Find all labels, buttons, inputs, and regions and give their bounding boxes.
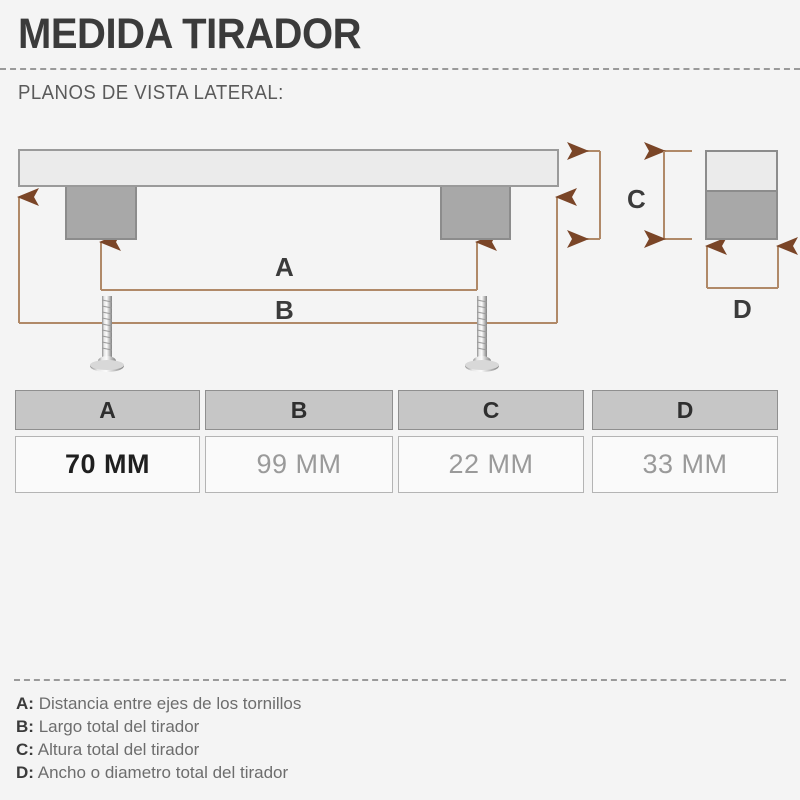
dimension-c-line-right: [664, 151, 692, 239]
screw-left-icon: [86, 296, 128, 378]
table-value-d: 33 MM: [592, 436, 778, 493]
table-column-c: C 22 MM: [398, 390, 584, 493]
legend-text-c: Altura total del tirador: [38, 740, 200, 759]
table-header-d: D: [592, 390, 778, 430]
legend-row: B: Largo total del tirador: [16, 715, 616, 738]
handle-front-view-shape: [705, 150, 778, 240]
legend-row: A: Distancia entre ejes de los tornillos: [16, 692, 616, 715]
legend-divider: [14, 679, 786, 681]
measurement-diagram-page: MEDIDA TIRADOR PLANOS DE VISTA LATERAL:: [0, 0, 800, 800]
table-column-a: A 70 MM: [15, 390, 200, 493]
measurement-table: A 70 MM B 99 MM C 22 MM D 33 MM: [0, 390, 800, 500]
legend-row: D: Ancho o diametro total del tirador: [16, 761, 616, 784]
table-header-c: C: [398, 390, 584, 430]
table-column-d: D 33 MM: [592, 390, 778, 493]
dimension-label-c: C: [627, 184, 646, 215]
technical-drawing: A B C D: [0, 0, 800, 390]
table-column-b: B 99 MM: [205, 390, 393, 493]
legend-key-d: D:: [16, 763, 34, 782]
legend-key-a: A:: [16, 694, 34, 713]
handle-bar-shape: [18, 149, 559, 187]
dimension-label-d: D: [733, 294, 752, 325]
legend-key-b: B:: [16, 717, 34, 736]
legend: A: Distancia entre ejes de los tornillos…: [16, 692, 616, 784]
dimension-label-a: A: [275, 252, 294, 283]
legend-row: C: Altura total del tirador: [16, 738, 616, 761]
dimension-c-line-left: [587, 151, 600, 239]
handle-leg-left-shape: [65, 187, 137, 240]
legend-text-a: Distancia entre ejes de los tornillos: [39, 694, 302, 713]
screw-right-icon: [461, 296, 503, 378]
handle-leg-right-shape: [440, 187, 511, 240]
table-value-a: 70 MM: [15, 436, 200, 493]
legend-text-d: Ancho o diametro total del tirador: [38, 763, 288, 782]
legend-key-c: C:: [16, 740, 34, 759]
front-view-lower-section: [707, 190, 776, 240]
dimension-label-b: B: [275, 295, 294, 326]
dimension-d-line: [707, 246, 778, 288]
table-header-b: B: [205, 390, 393, 430]
table-header-a: A: [15, 390, 200, 430]
legend-text-b: Largo total del tirador: [39, 717, 200, 736]
table-value-c: 22 MM: [398, 436, 584, 493]
table-value-b: 99 MM: [205, 436, 393, 493]
